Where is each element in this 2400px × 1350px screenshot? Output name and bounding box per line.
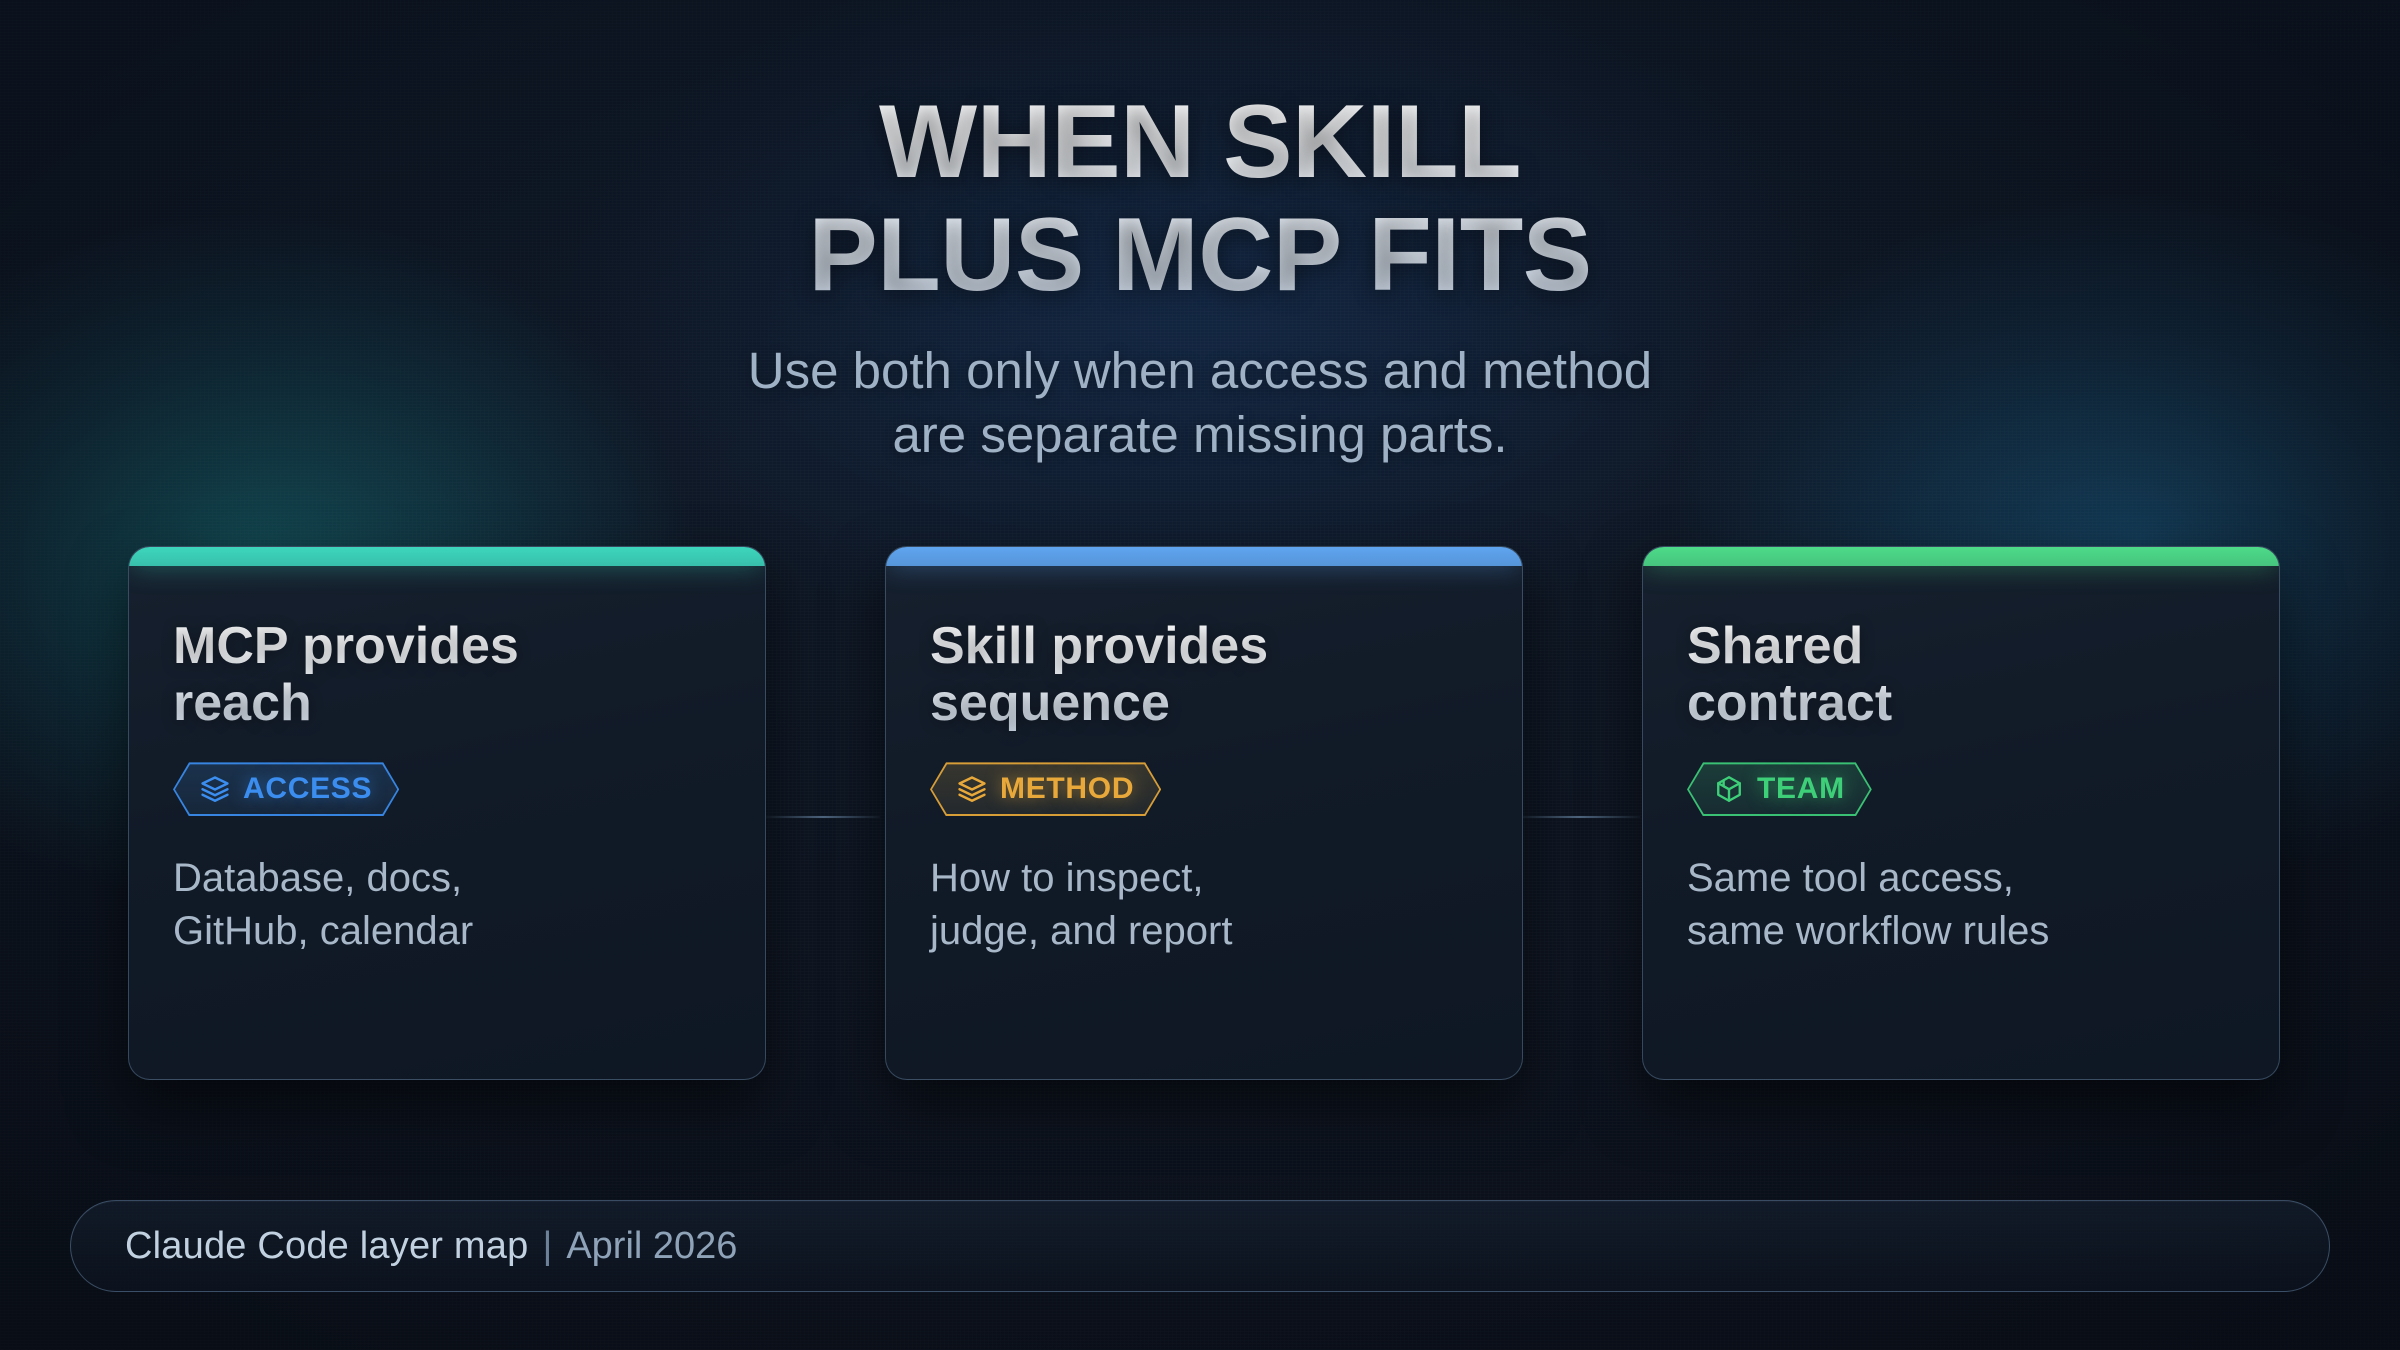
badge-label: METHOD [1000, 772, 1134, 806]
card-mcp-provides-reach[interactable]: MCP provides reach ACCESS Database, docs… [128, 546, 766, 1080]
card-accent-bar [129, 547, 765, 566]
badge-label: ACCESS [243, 772, 372, 806]
layers-icon [957, 774, 987, 804]
card-description: How to inspect, judge, and report [930, 852, 1478, 958]
status-badge[interactable]: TEAM [1687, 762, 1872, 816]
footer-bar: Claude Code layer map | April 2026 [70, 1200, 2330, 1292]
card-title: Skill provides sequence [930, 618, 1478, 732]
card-connector-1 [766, 816, 880, 818]
footer-label: Claude Code layer map [125, 1225, 528, 1268]
card-connector-2 [1518, 816, 1640, 818]
card-description: Database, docs, GitHub, calendar [173, 852, 721, 958]
header: WHEN SKILL PLUS MCP FITS Use both only w… [0, 0, 2400, 467]
card-title: Shared contract [1687, 618, 2235, 732]
badge-inner: METHOD [930, 762, 1161, 816]
page-title: WHEN SKILL PLUS MCP FITS [0, 86, 2400, 313]
card-skill-provides-sequence[interactable]: Skill provides sequence METHOD How to in… [885, 546, 1523, 1080]
badge-inner: ACCESS [173, 762, 399, 816]
page-subtitle: Use both only when access and method are… [0, 339, 2400, 468]
card-body: MCP provides reach ACCESS Database, docs… [129, 566, 765, 1079]
box-icon [1714, 774, 1744, 804]
badge-label: TEAM [1757, 772, 1845, 806]
layers-icon [200, 774, 230, 804]
badge-inner: TEAM [1687, 762, 1872, 816]
card-shared-contract[interactable]: Shared contract TEAM Same tool acce [1642, 546, 2280, 1080]
status-badge[interactable]: ACCESS [173, 762, 399, 816]
card-accent-bar [1643, 547, 2279, 566]
card-body: Skill provides sequence METHOD How to in… [886, 566, 1522, 1079]
card-body: Shared contract TEAM Same tool acce [1643, 566, 2279, 1079]
footer-date: April 2026 [566, 1225, 737, 1268]
cards-row: MCP provides reach ACCESS Database, docs… [128, 546, 2280, 1080]
status-badge[interactable]: METHOD [930, 762, 1161, 816]
card-title: MCP provides reach [173, 618, 721, 732]
card-accent-bar [886, 547, 1522, 566]
card-description: Same tool access, same workflow rules [1687, 852, 2235, 958]
footer-separator: | [542, 1225, 552, 1268]
